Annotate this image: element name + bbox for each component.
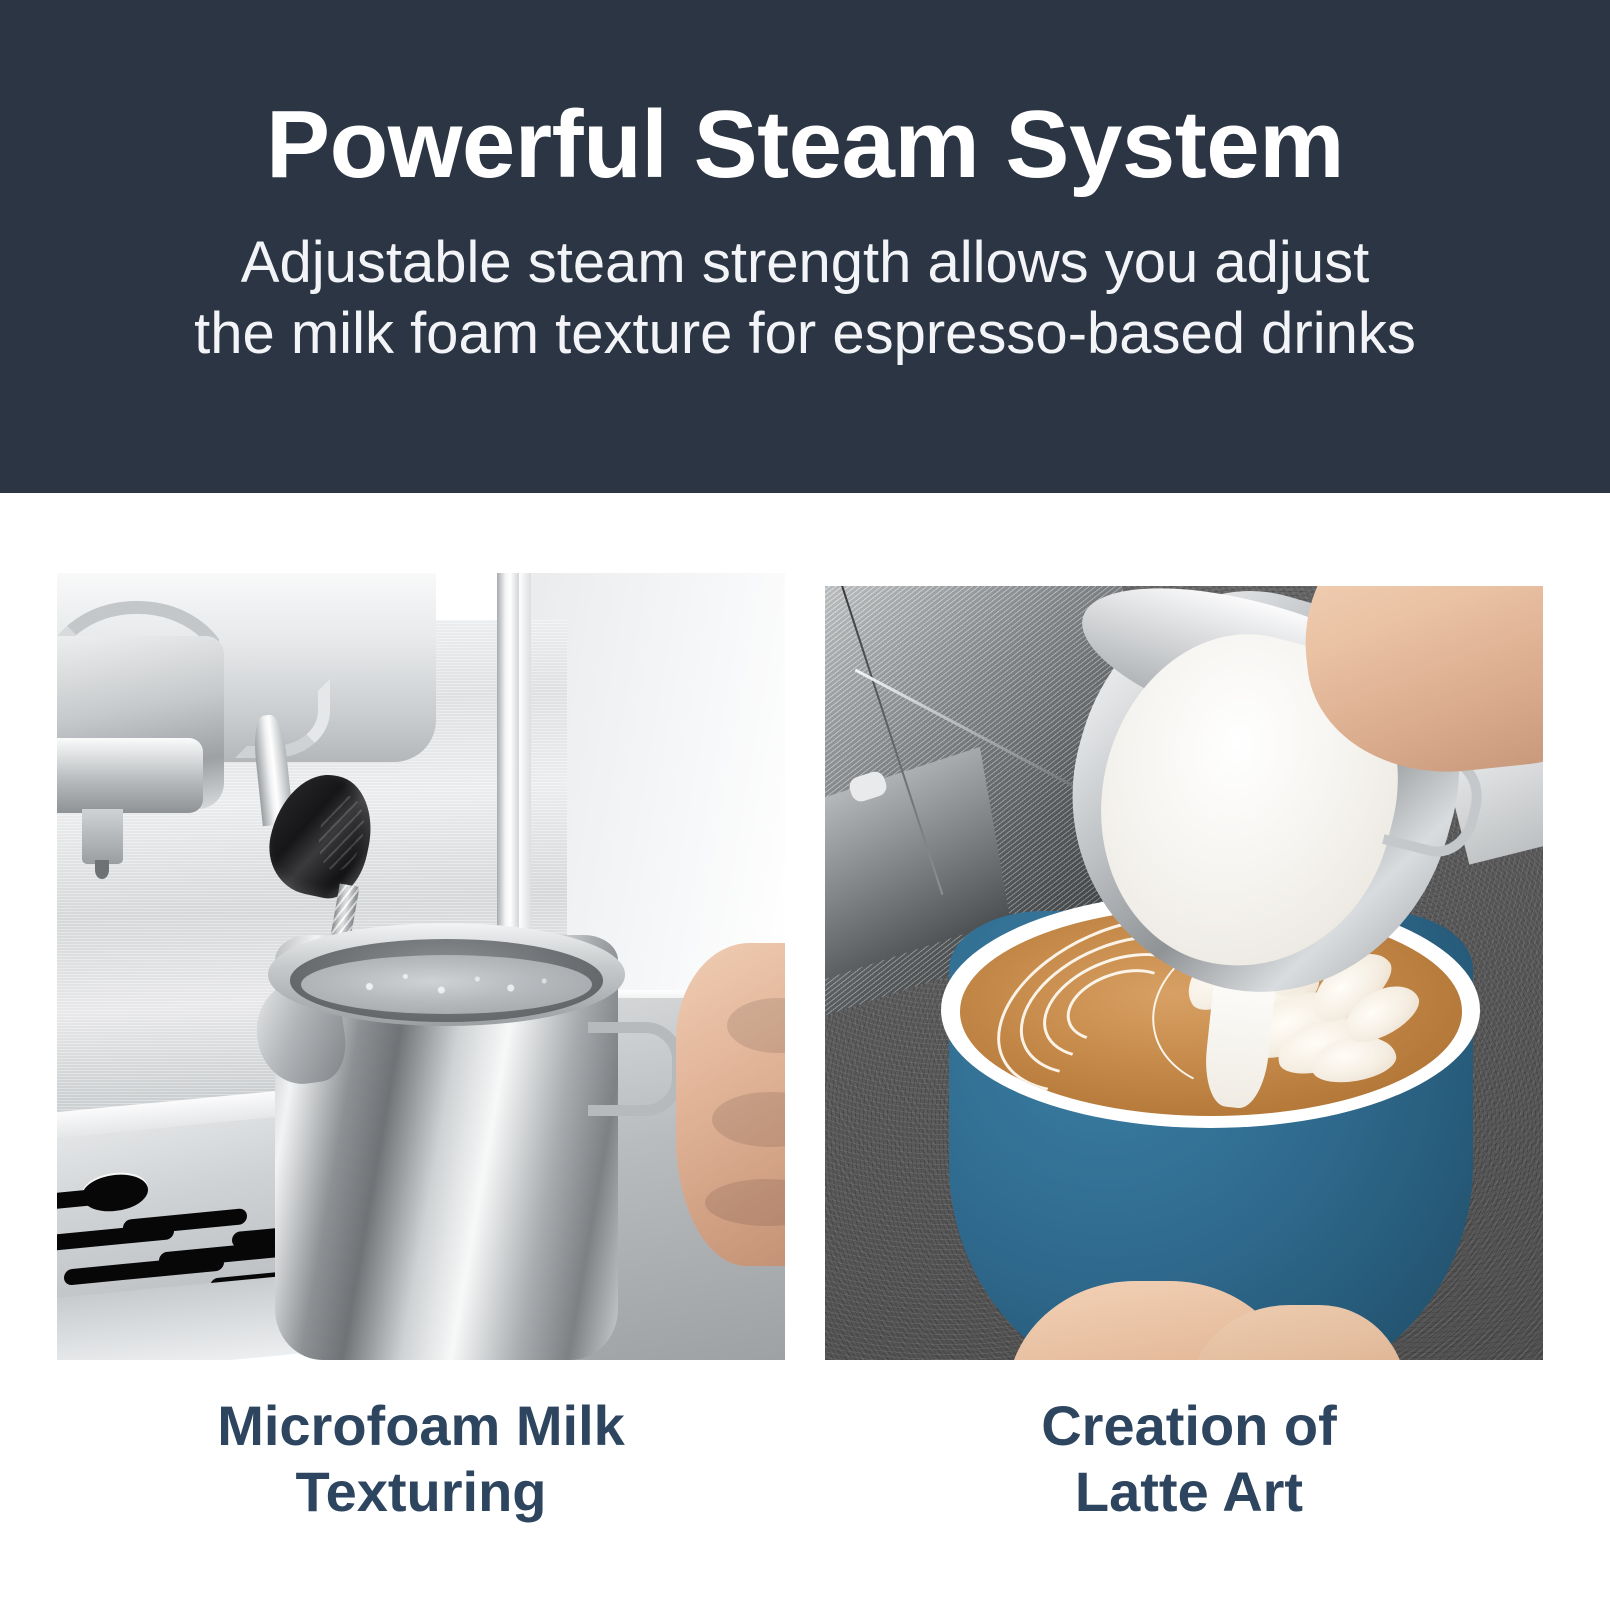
caption-line-1: Microfoam Milk <box>217 1394 625 1457</box>
photo-creation-of-latte-art <box>825 573 1553 1360</box>
milk-pitcher-handle <box>588 1022 683 1116</box>
page-subtitle: Adjustable steam strength allows you adj… <box>194 228 1416 370</box>
milk-foam-surface <box>301 955 592 1014</box>
caption-microfoam-milk-texturing: Microfoam Milk Texturing <box>57 1393 785 1525</box>
photo-microfoam-milk-texturing <box>57 573 785 1360</box>
espresso-machine-photo <box>57 573 785 1360</box>
portafilter-ring <box>57 738 203 813</box>
caption-line-2: Latte Art <box>825 1459 1553 1525</box>
caption-creation-of-latte-art: Creation of Latte Art <box>825 1393 1553 1525</box>
feature-panels: Microfoam Milk Texturing <box>0 493 1610 1610</box>
subtitle-line-1: Adjustable steam strength allows you adj… <box>241 230 1369 295</box>
portafilter-spout <box>82 809 123 864</box>
caption-line-1: Creation of <box>1041 1394 1337 1457</box>
photo-edge-right <box>1543 573 1553 1360</box>
subtitle-line-2: the milk foam texture for espresso-based… <box>194 299 1416 370</box>
caption-line-2: Texturing <box>57 1459 785 1525</box>
photo-edge-top <box>825 573 1553 586</box>
latte-art-photo <box>825 573 1553 1360</box>
page-title: Powerful Steam System <box>266 96 1344 194</box>
header-banner: Powerful Steam System Adjustable steam s… <box>0 0 1610 493</box>
